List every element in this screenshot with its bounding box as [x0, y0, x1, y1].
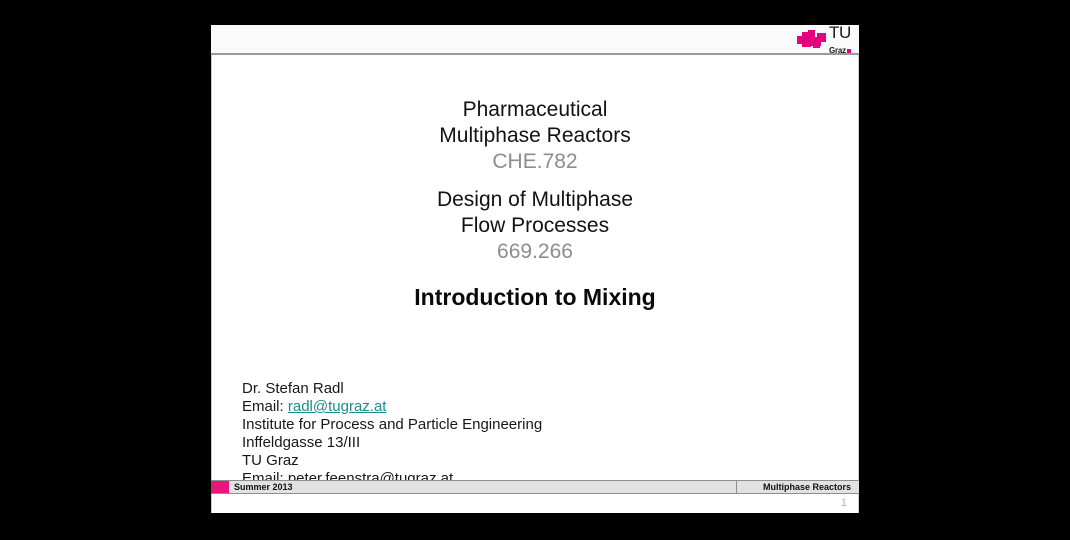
course-secondary-block: Design of Multiphase Flow Processes 669.… [211, 187, 859, 265]
tu-graz-cross-icon [797, 30, 827, 50]
course-secondary-code: 669.266 [211, 239, 859, 265]
video-viewport: TU Graz Pharmaceutical Multiphase Reacto… [0, 0, 1070, 540]
footer-term-label: Summer 2013 [234, 481, 293, 493]
slide-body: Pharmaceutical Multiphase Reactors CHE.7… [211, 55, 859, 480]
author-institute: Institute for Process and Particle Engin… [242, 416, 802, 434]
lecture-title: Introduction to Mixing [211, 284, 859, 311]
author-email-row: Email: radl@tugraz.at [242, 398, 802, 416]
course-primary-title-line-1: Pharmaceutical [211, 97, 859, 123]
author-street: Inffeldgasse 13/III [242, 434, 802, 452]
author-university: TU Graz [242, 452, 802, 470]
presentation-slide: TU Graz Pharmaceutical Multiphase Reacto… [211, 25, 859, 513]
footer-divider [736, 481, 737, 493]
tu-graz-logo: TU Graz [797, 27, 851, 53]
logo-tu-text: TU [829, 25, 851, 41]
course-secondary-title-line-2: Flow Processes [211, 213, 859, 239]
slide-header: TU Graz [211, 25, 859, 54]
course-secondary-title-line-1: Design of Multiphase [211, 187, 859, 213]
course-primary-block: Pharmaceutical Multiphase Reactors CHE.7… [211, 97, 859, 175]
course-primary-code: CHE.782 [211, 149, 859, 175]
course-primary-title-line-2: Multiphase Reactors [211, 123, 859, 149]
author-contact-block: Dr. Stefan Radl Email: radl@tugraz.at In… [242, 380, 802, 488]
author-email-link[interactable]: radl@tugraz.at [288, 398, 387, 415]
footer-accent-swatch [211, 481, 229, 493]
logo-accent-dot-icon [847, 49, 851, 53]
author-name: Dr. Stefan Radl [242, 380, 802, 398]
author-email-label: Email: [242, 398, 284, 415]
slide-footer: Summer 2013 Multiphase Reactors [211, 480, 859, 494]
tu-graz-logo-text: TU Graz [829, 25, 851, 57]
footer-course-label: Multiphase Reactors [763, 481, 851, 493]
page-number: 1 [841, 497, 847, 509]
